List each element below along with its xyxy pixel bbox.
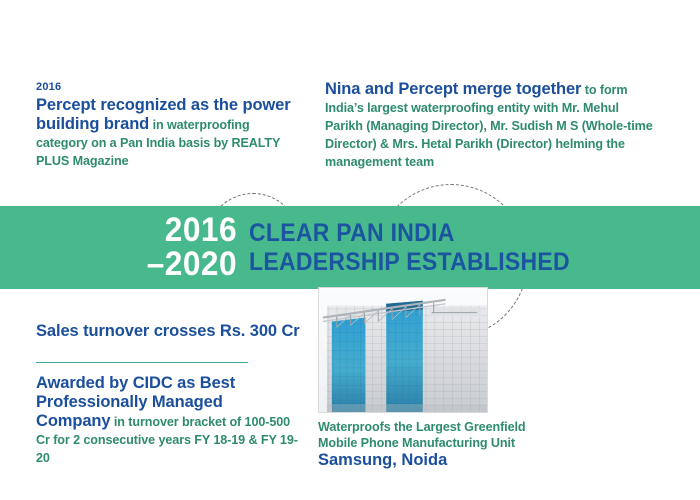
top-right-paragraph: Nina and Percept merge together to form …: [325, 80, 655, 171]
photo-caption-block: Waterproofs the Largest Greenfield Mobil…: [318, 419, 568, 470]
top-right-text-block: Nina and Percept merge together to form …: [325, 80, 655, 171]
building-photo-illustration: [319, 288, 487, 412]
top-left-year: 2016: [36, 80, 301, 95]
award-paragraph: Awarded by CIDC as Best Professionally M…: [36, 374, 301, 467]
top-left-paragraph: Percept recognized as the power building…: [36, 96, 301, 170]
photo-caption-highlight: Samsung, Noida: [318, 451, 568, 470]
band-year-to: –2020: [147, 248, 237, 282]
band-title: CLEAR PAN INDIA LEADERSHIP ESTABLISHED: [249, 206, 663, 289]
award-block: Awarded by CIDC as Best Professionally M…: [36, 374, 301, 467]
infographic-canvas: 2016 Percept recognized as the power bui…: [0, 0, 700, 500]
band-year-from: 2016: [165, 214, 237, 248]
top-right-headline: Nina and Percept merge together: [325, 80, 581, 98]
section-divider: [36, 362, 248, 363]
band-year-range: 2016 –2020: [65, 206, 237, 289]
sales-headline: Sales turnover crosses Rs. 300 Cr: [36, 322, 300, 340]
band-title-line2: LEADERSHIP ESTABLISHED: [249, 248, 663, 277]
building-photo: [318, 287, 488, 413]
sales-turnover-block: Sales turnover crosses Rs. 300 Cr: [36, 322, 301, 341]
photo-caption-body: Waterproofs the Largest Greenfield Mobil…: [318, 419, 568, 451]
band-title-line1: CLEAR PAN INDIA: [249, 219, 663, 248]
top-left-text-block: 2016 Percept recognized as the power bui…: [36, 80, 301, 170]
